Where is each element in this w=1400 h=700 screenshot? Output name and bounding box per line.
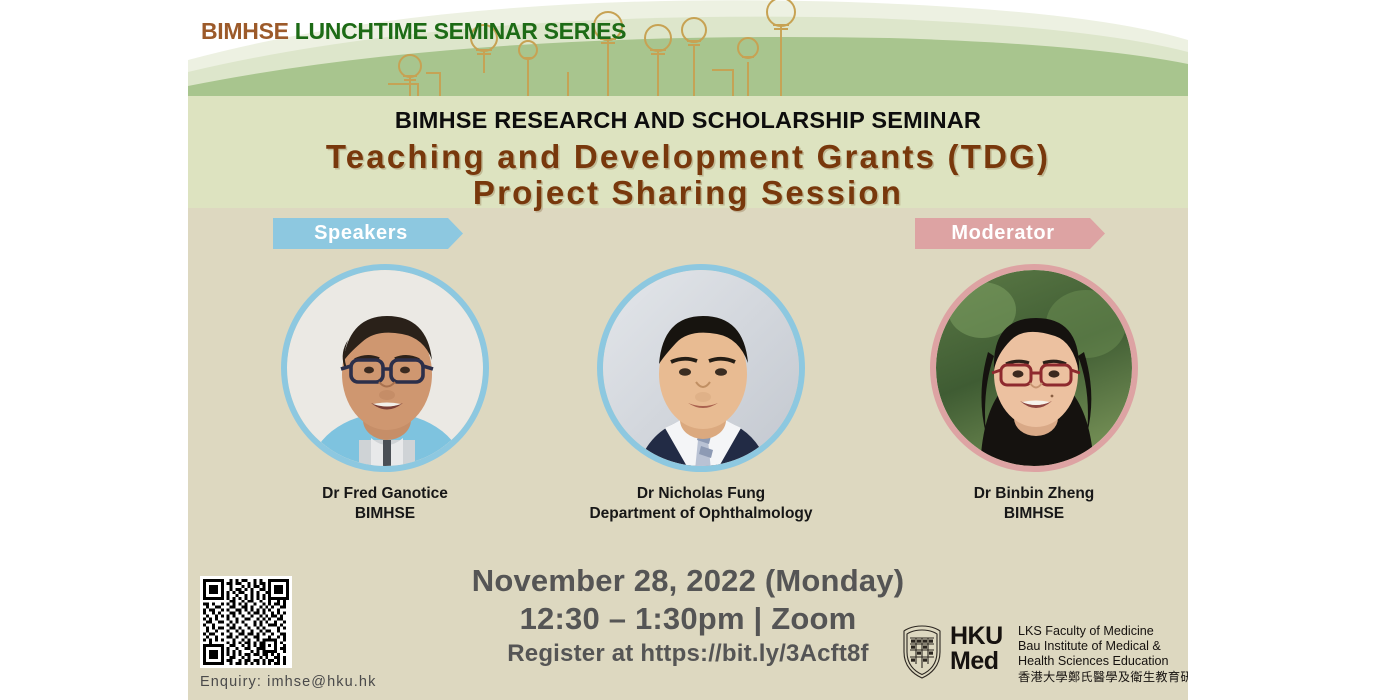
- speaker-card-1: Dr Fred Ganotice BIMHSE: [249, 264, 521, 524]
- hku-med-wordmark: HKU Med: [950, 624, 1003, 674]
- seminar-poster: BIMHSE LUNCHTIME SEMINAR SERIES BIMHSE R…: [188, 0, 1188, 700]
- speaker-photo-1: [281, 264, 489, 472]
- moderator-name: Dr Binbin Zheng: [898, 484, 1170, 504]
- header-curve-graphic: [188, 0, 1188, 96]
- moderator-affiliation: BIMHSE: [898, 504, 1170, 524]
- moderator-card: Dr Binbin Zheng BIMHSE: [898, 264, 1170, 524]
- hku-word-line-1: HKU: [950, 624, 1003, 649]
- event-date: November 28, 2022 (Monday): [368, 562, 1008, 600]
- poster-header: BIMHSE LUNCHTIME SEMINAR SERIES: [188, 0, 1188, 96]
- title-block: BIMHSE RESEARCH AND SCHOLARSHIP SEMINAR …: [188, 96, 1188, 208]
- speaker-card-2: Dr Nicholas Fung Department of Ophthalmo…: [565, 264, 837, 524]
- speaker-name-2: Dr Nicholas Fung: [565, 484, 837, 504]
- speaker-name-1: Dr Fred Ganotice: [249, 484, 521, 504]
- hku-med-logo: HKU Med LKS Faculty of Medicine Bau Inst…: [900, 618, 1188, 694]
- moderator-photo: [930, 264, 1138, 472]
- header-brand: BIMHSE: [201, 18, 289, 44]
- hku-word-line-2: Med: [950, 649, 1003, 674]
- seminar-title-line-1: Teaching and Development Grants (TDG): [188, 139, 1188, 175]
- enquiry-text: Enquiry: imhse@hku.hk: [200, 674, 376, 690]
- portrait-nicholas-fung: [603, 270, 799, 466]
- speaker-affiliation-2: Department of Ophthalmology: [565, 504, 837, 524]
- header-title: BIMHSE LUNCHTIME SEMINAR SERIES: [201, 18, 626, 45]
- seminar-title-line-2: Project Sharing Session: [188, 175, 1188, 211]
- faculty-line-1: LKS Faculty of Medicine: [1018, 624, 1188, 639]
- qr-code-icon[interactable]: [200, 576, 292, 668]
- hku-faculty-lines: LKS Faculty of Medicine Bau Institute of…: [1018, 624, 1188, 685]
- faculty-line-3: Health Sciences Education: [1018, 654, 1188, 669]
- speaker-photo-2: [597, 264, 805, 472]
- portrait-binbin-zheng: [936, 270, 1132, 466]
- faculty-line-chinese: 香港大學鄭氏醫學及衛生教育研究所: [1018, 669, 1188, 685]
- seminar-eyebrow: BIMHSE RESEARCH AND SCHOLARSHIP SEMINAR: [188, 107, 1188, 134]
- speakers-banner: Speakers: [273, 218, 463, 249]
- portrait-fred-ganotice: [287, 270, 483, 466]
- university-crest-icon: [900, 624, 944, 680]
- speaker-affiliation-1: BIMHSE: [249, 504, 521, 524]
- moderator-banner: Moderator: [915, 218, 1105, 249]
- qr-code-wrapper[interactable]: [200, 576, 292, 668]
- faculty-line-2: Bau Institute of Medical &: [1018, 639, 1188, 654]
- header-series: LUNCHTIME SEMINAR SERIES: [295, 18, 626, 44]
